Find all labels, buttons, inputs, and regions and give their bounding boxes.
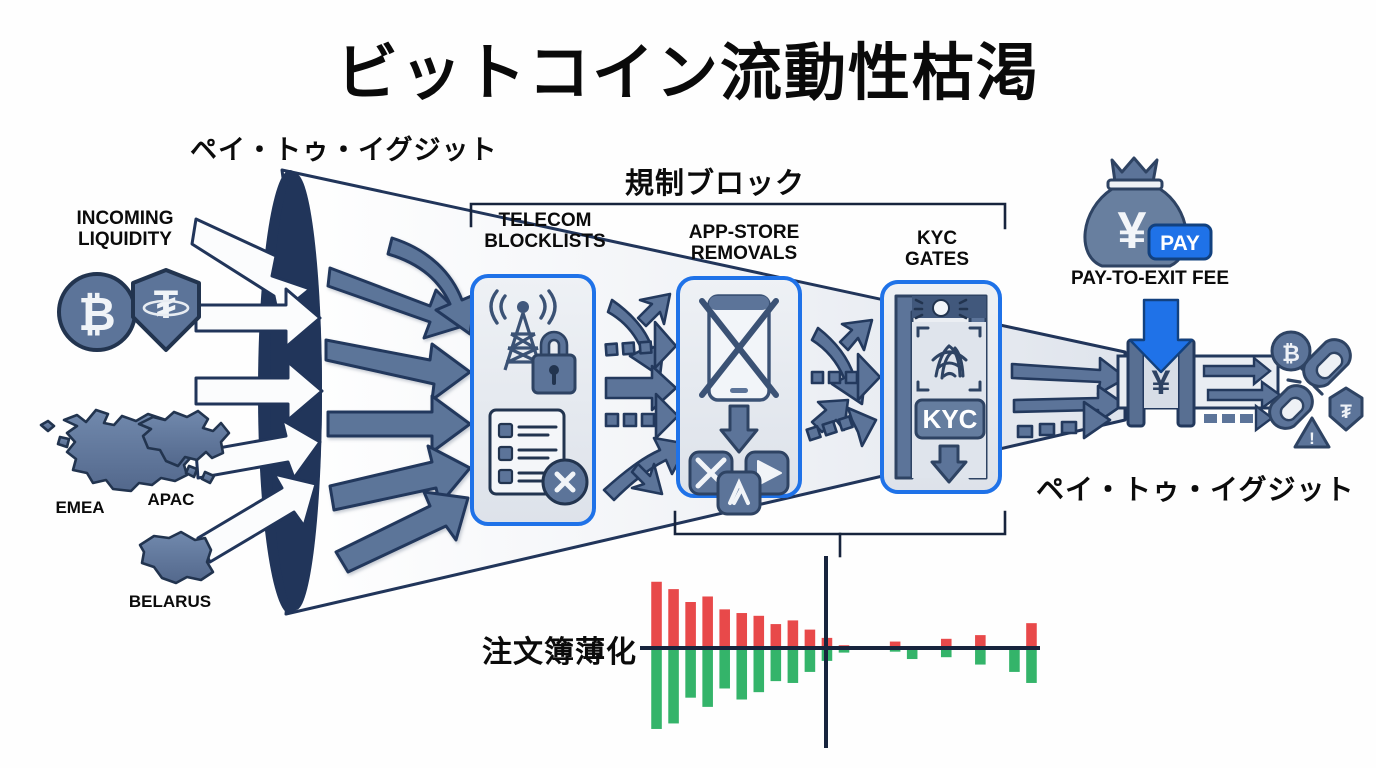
svg-text:₿: ₿ <box>78 288 116 340</box>
label-region-belarus: BELARUS <box>115 592 225 611</box>
label-regulation-block: 規制ブロック <box>625 160 805 202</box>
chart-bar-ask-depth <box>702 596 713 648</box>
phone-crossed-out-icon <box>702 296 776 400</box>
chart-bar-ask-depth <box>771 624 782 648</box>
label-kyc-gates: KYC GATES <box>882 228 992 271</box>
label-order-book-thinning: 注文簿薄化 <box>482 627 637 671</box>
chart-bar-bid-depth <box>702 648 713 707</box>
chart-bar-ask-depth <box>685 602 696 648</box>
label-app-store-removals: APP-STORE REMOVALS <box>668 222 820 265</box>
bitcoin-coin-icon: ₿ <box>59 274 135 350</box>
broken-chain-group: ₿ ₮ ! <box>1270 332 1362 448</box>
chart-bar-bid-depth <box>805 648 816 672</box>
svg-text:₮: ₮ <box>154 283 178 327</box>
chart-bar-bid-depth <box>975 648 986 665</box>
chart-bar-bid-depth <box>1009 648 1020 672</box>
label-pay-to-exit-right: ペイ・トゥ・イグジット <box>1036 468 1354 508</box>
block-telecom-blocklists[interactable] <box>472 276 594 524</box>
chart-bar-bid-depth <box>736 648 747 700</box>
chart-bar-bid-depth <box>754 648 765 692</box>
svg-text:¥: ¥ <box>1118 202 1147 260</box>
chart-bar-bid-depth <box>771 648 782 681</box>
svg-text:₿: ₿ <box>1282 341 1300 366</box>
chart-bar-ask-depth <box>719 609 730 648</box>
chart-bar-bid-depth <box>1026 648 1037 683</box>
chart-bar-ask-depth <box>668 589 679 648</box>
label-telecom-line1: TELECOM <box>470 210 620 231</box>
chart-bar-bid-depth <box>719 648 730 688</box>
chart-bar-bid-depth <box>788 648 799 683</box>
label-pay-to-exit-fee: PAY-TO-EXIT FEE <box>1050 268 1250 289</box>
label-pay-to-exit-left: ペイ・トゥ・イグジット <box>190 128 497 167</box>
label-kyc-line1: KYC <box>882 228 992 249</box>
label-telecom-line2: BLOCKLISTS <box>470 231 620 252</box>
chart-bar-ask-depth <box>1026 623 1037 648</box>
svg-text:₮: ₮ <box>1340 402 1352 423</box>
chart-bar-bid-depth <box>668 648 679 723</box>
label-incoming-liquidity-line2: LIQUIDITY <box>55 229 195 250</box>
kyc-scanner-gate-icon: KYC <box>896 296 986 482</box>
block-kyc-gates[interactable]: KYC <box>882 282 1000 492</box>
block-app-store-removals[interactable] <box>678 278 800 514</box>
tether-token-icon: ₮ <box>133 270 199 350</box>
chart-bars <box>651 582 1037 729</box>
label-appstore-line1: APP-STORE <box>668 222 820 243</box>
chart-bar-ask-depth <box>736 613 747 648</box>
label-appstore-line2: REMOVALS <box>668 243 820 264</box>
chart-bar-ask-depth <box>805 630 816 648</box>
label-incoming-liquidity: INCOMING LIQUIDITY <box>55 208 195 251</box>
chart-bar-bid-depth <box>685 648 696 698</box>
chart-bar-ask-depth <box>788 620 799 648</box>
order-book-chart <box>640 548 1060 758</box>
map-belarus-icon <box>140 532 213 583</box>
chart-bar-bid-depth <box>651 648 662 729</box>
label-region-apac: APAC <box>136 490 206 509</box>
svg-text:!: ! <box>1309 429 1315 448</box>
chart-bar-ask-depth <box>754 616 765 648</box>
label-telecom-blocklists: TELECOM BLOCKLISTS <box>470 210 620 253</box>
svg-text:KYC: KYC <box>923 404 978 434</box>
label-incoming-liquidity-line1: INCOMING <box>55 208 195 229</box>
money-bag-yen-icon: ¥ PAY <box>1085 158 1211 266</box>
svg-text:PAY: PAY <box>1160 232 1200 255</box>
chart-bar-ask-depth <box>651 582 662 648</box>
label-kyc-line2: GATES <box>882 249 992 270</box>
diagram-canvas: ビットコイン流動性枯渇 <box>0 0 1376 768</box>
label-region-emea: EMEA <box>40 498 120 517</box>
